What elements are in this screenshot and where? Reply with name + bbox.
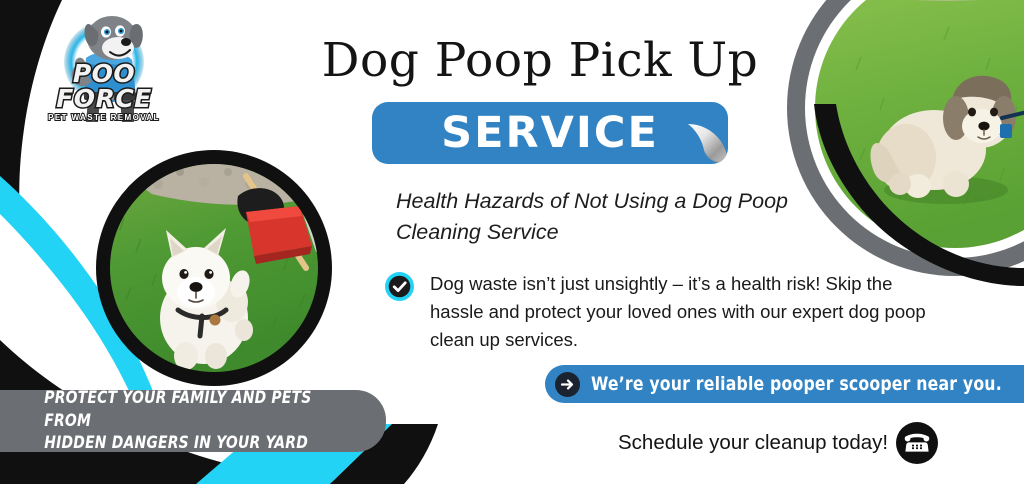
cta-pill-label: We’re your reliable pooper scooper near … xyxy=(591,373,1002,395)
check-circle-icon xyxy=(385,272,414,301)
page-title: Dog Poop Pick Up xyxy=(300,36,780,85)
benefit-text: Dog waste isn’t just unsightly – it’s a … xyxy=(430,270,945,354)
tagline-line-1: PROTECT YOUR FAMILY AND PETS FROM xyxy=(44,388,311,430)
logo-tagline: PET WASTE REMOVAL xyxy=(28,113,180,122)
tagline-text: PROTECT YOUR FAMILY AND PETS FROM HIDDEN… xyxy=(0,387,362,455)
arrow-right-circle-icon xyxy=(555,372,580,397)
marketing-banner: POO FORCE PET WASTE REMOVAL Dog Poop Pic… xyxy=(0,0,1024,484)
benefit-bullet-row: Dog waste isn’t just unsightly – it’s a … xyxy=(385,270,945,354)
service-badge: SERVICE xyxy=(372,102,728,164)
schedule-row[interactable]: Schedule your cleanup today! xyxy=(618,422,938,464)
tagline-line-2: HIDDEN DANGERS IN YOUR YARD xyxy=(44,433,308,452)
telephone-icon[interactable] xyxy=(896,422,938,464)
left-photo xyxy=(110,164,318,372)
cta-pill[interactable]: We’re your reliable pooper scooper near … xyxy=(545,365,1024,403)
service-badge-label: SERVICE xyxy=(372,102,728,164)
subtitle: Health Hazards of Not Using a Dog Poop C… xyxy=(396,186,816,247)
brand-logo[interactable]: POO FORCE PET WASTE REMOVAL xyxy=(28,8,180,136)
page-peel-corner xyxy=(688,124,728,164)
tagline-banner: PROTECT YOUR FAMILY AND PETS FROM HIDDEN… xyxy=(0,390,386,452)
schedule-label: Schedule your cleanup today! xyxy=(618,431,888,455)
logo-word: POO FORCE xyxy=(28,61,180,111)
logo-wordmark: POO FORCE PET WASTE REMOVAL xyxy=(28,61,180,122)
